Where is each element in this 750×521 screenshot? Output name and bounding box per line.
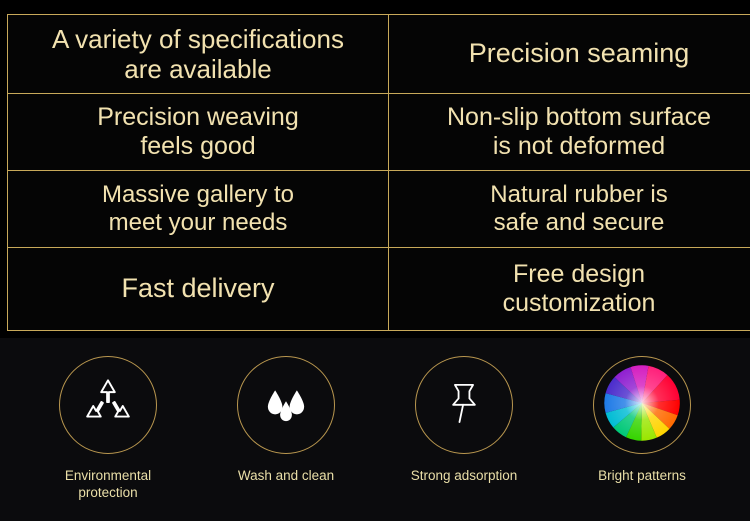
feature-text-line: meet your needs [14, 209, 382, 237]
feature-text-line: customization [395, 289, 750, 318]
feature-cell-4-right: Free designcustomization [389, 248, 750, 331]
icon-item-bright-patterns: Bright patterns [572, 356, 712, 484]
icon-item-environmental-protection: Environmental protection [38, 356, 178, 502]
feature-text-line: is not deformed [395, 132, 750, 161]
feature-text-line: Massive gallery to [14, 181, 382, 209]
feature-text-line: safe and secure [395, 209, 750, 237]
feature-text-line: Free design [395, 260, 750, 289]
icon-label-line: Wash and clean [238, 468, 334, 484]
icon-label-line: Environmental [65, 468, 151, 485]
icon-item-strong-adsorption: Strong adsorption [394, 356, 534, 484]
icon-circle [593, 356, 691, 454]
feature-text-line: A variety of specifications [14, 24, 382, 54]
features-table: A variety of specificationsare available… [7, 14, 750, 331]
icon-circle [237, 356, 335, 454]
feature-text-line: Natural rubber is [395, 181, 750, 209]
feature-cell-2-left: Precision weavingfeels good [8, 94, 389, 171]
table-row: Precision weavingfeels good Non-slip bot… [8, 94, 750, 171]
table-row: Fast delivery Free designcustomization [8, 248, 750, 331]
feature-text-line: Precision seaming [395, 38, 750, 69]
table-row: Massive gallery tomeet your needs Natura… [8, 171, 750, 248]
icon-label: Bright patterns [598, 468, 686, 484]
icon-label: Wash and clean [238, 468, 334, 484]
icon-label: Environmental protection [65, 468, 151, 502]
feature-cell-1-left: A variety of specificationsare available [8, 15, 389, 94]
feature-cell-4-left: Fast delivery [8, 248, 389, 331]
icon-row: Environmental protection Wash and cl [0, 338, 750, 502]
icon-strip: Environmental protection Wash and cl [0, 338, 750, 521]
promo-banner: A variety of specificationsare available… [0, 0, 750, 521]
table-row: A variety of specificationsare available… [8, 15, 750, 94]
feature-text-line: Non-slip bottom surface [395, 103, 750, 132]
icon-circle [59, 356, 157, 454]
feature-text-line: feels good [14, 132, 382, 161]
feature-text-line: Fast delivery [14, 273, 382, 304]
feature-cell-2-right: Non-slip bottom surfaceis not deformed [389, 94, 750, 171]
feature-cell-3-left: Massive gallery tomeet your needs [8, 171, 389, 248]
feature-text-line: are available [14, 54, 382, 84]
water-drops-icon [257, 374, 315, 437]
icon-label-line: Bright patterns [598, 468, 686, 484]
thumbtack-icon [435, 374, 493, 437]
icon-label-line: Strong adsorption [411, 468, 518, 484]
feature-cell-3-right: Natural rubber issafe and secure [389, 171, 750, 248]
icon-circle [415, 356, 513, 454]
icon-label-line: protection [65, 485, 151, 502]
feature-cell-1-right: Precision seaming [389, 15, 750, 94]
color-wheel-icon [601, 362, 683, 449]
recycle-icon [79, 374, 137, 437]
icon-item-wash-and-clean: Wash and clean [216, 356, 356, 484]
feature-text-line: Precision weaving [14, 103, 382, 132]
icon-label: Strong adsorption [411, 468, 518, 484]
